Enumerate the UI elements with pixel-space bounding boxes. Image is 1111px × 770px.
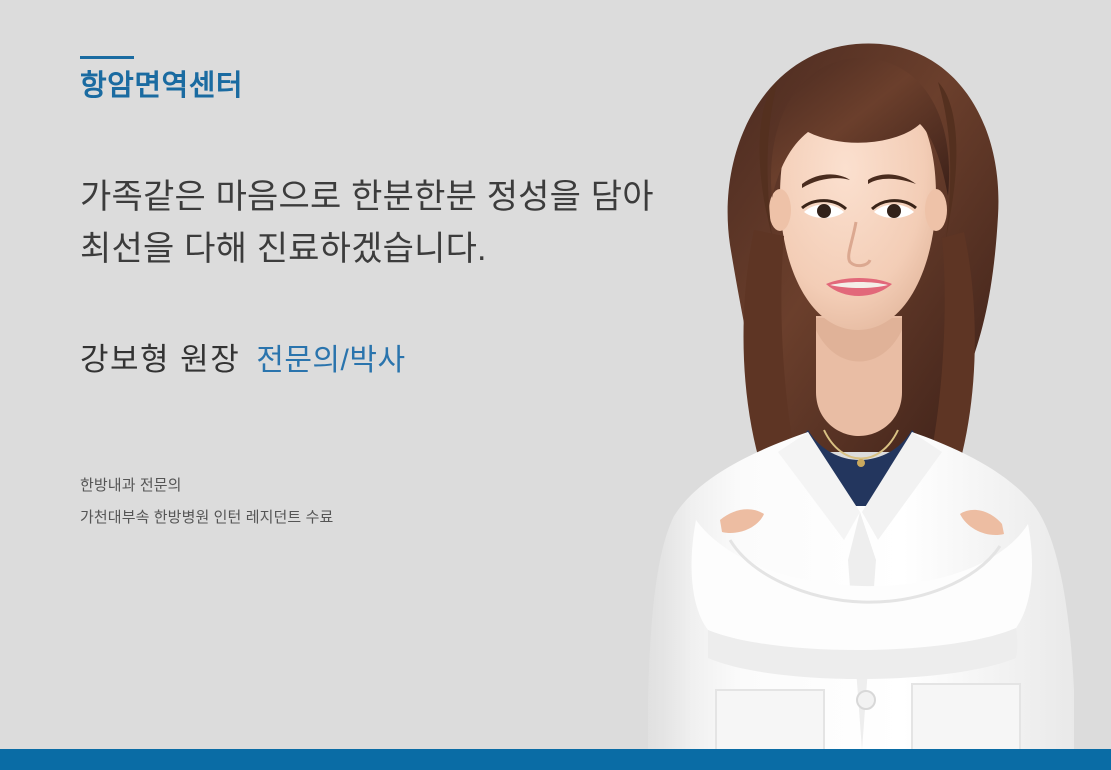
title-accent-rule bbox=[80, 56, 134, 59]
doctor-credentials: 한방내과 전문의 가천대부속 한방병원 인턴 레지던트 수료 bbox=[80, 470, 333, 535]
watermark-center-mark bbox=[1012, 60, 1111, 247]
banner-text-column: 항암면역센터 가족같은 마음으로 한분한분 정성을 담아 최선을 다해 진료하겠… bbox=[80, 0, 680, 750]
hospital-watermark-logo: 튼튼한방병원 HANBANG HOSPITAL bbox=[880, 0, 1111, 322]
doctor-profile-banner: 튼튼한방병원 HANBANG HOSPITAL bbox=[0, 0, 1111, 770]
watermark-korean-arc-text: 튼튼한방병원 bbox=[910, 0, 1111, 60]
credential-item: 가천대부속 한방병원 인턴 레지던트 수료 bbox=[80, 502, 333, 534]
bottom-accent-bar bbox=[0, 749, 1111, 770]
doctor-name: 강보형 원장 bbox=[80, 334, 240, 379]
headline-line-2: 최선을 다해 진료하겠습니다. bbox=[80, 224, 654, 276]
doctor-photo bbox=[612, 0, 1111, 750]
center-title: 항암면역센터 bbox=[80, 68, 243, 106]
credential-item: 한방내과 전문의 bbox=[80, 470, 333, 502]
svg-text:튼튼한방병원: 튼튼한방병원 bbox=[910, 0, 1111, 60]
doctor-name-row: 강보형 원장 전문의/박사 bbox=[80, 334, 406, 379]
svg-text:HANBANG HOSPITAL: HANBANG HOSPITAL bbox=[880, 0, 1111, 270]
watermark-latin-arc-text: HANBANG HOSPITAL bbox=[880, 0, 1111, 270]
doctor-qualification: 전문의/박사 bbox=[256, 335, 405, 379]
headline-line-1: 가족같은 마음으로 한분한분 정성을 담아 bbox=[80, 172, 654, 224]
headline: 가족같은 마음으로 한분한분 정성을 담아 최선을 다해 진료하겠습니다. bbox=[80, 172, 654, 275]
